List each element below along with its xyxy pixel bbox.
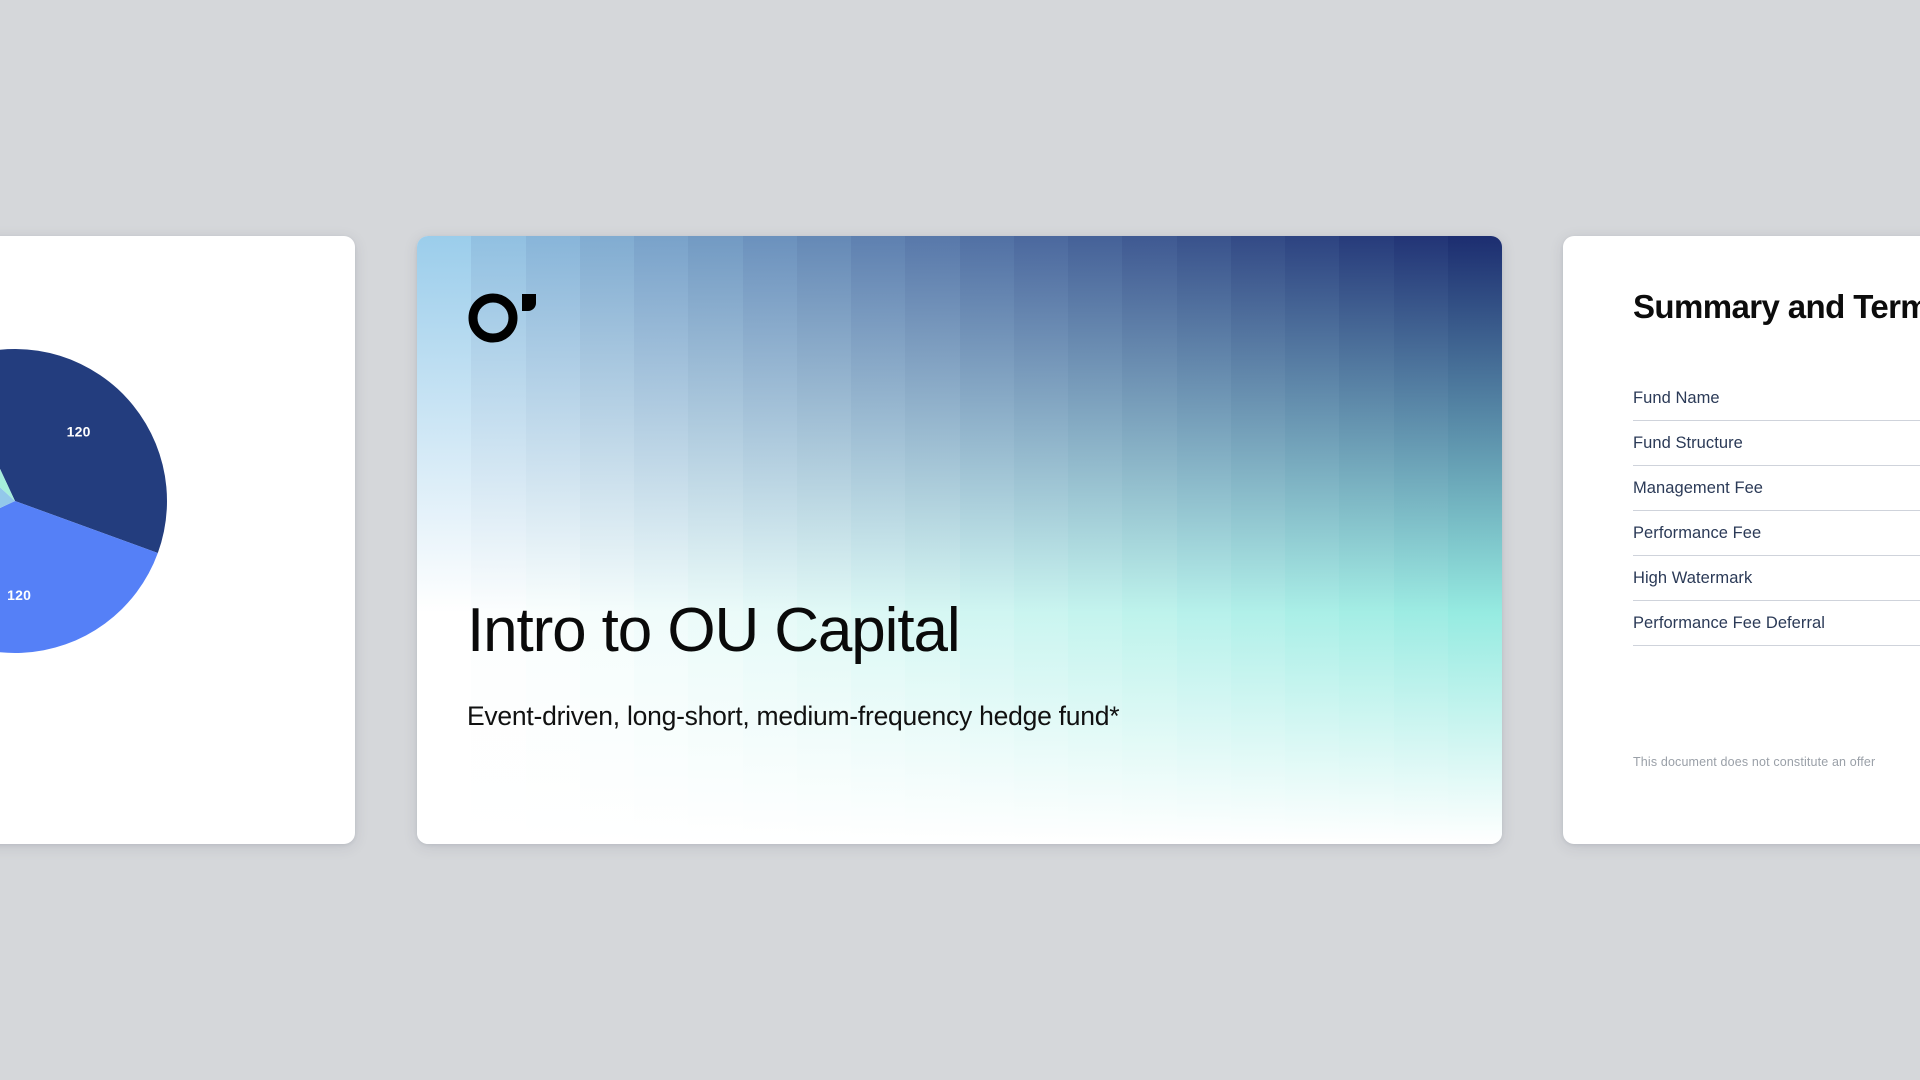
page-subtitle: Event-driven, long-short, medium-frequen… — [467, 701, 1119, 732]
terms-row-label: Performance Fee — [1633, 524, 1761, 542]
terms-row[interactable]: High Watermark — [1633, 556, 1920, 601]
gradient-band — [1177, 236, 1231, 844]
terms-row-label: High Watermark — [1633, 569, 1752, 587]
gradient-band — [688, 236, 742, 844]
gradient-background — [417, 236, 1502, 844]
gradient-band — [1231, 236, 1285, 844]
gradient-band — [1394, 236, 1448, 844]
gradient-band — [1068, 236, 1122, 844]
terms-row-label: Fund Name — [1633, 389, 1720, 407]
gradient-band — [1285, 236, 1339, 844]
terms-row[interactable]: Fund Name — [1633, 376, 1920, 421]
gradient-band — [580, 236, 634, 844]
terms-row-label: Performance Fee Deferral — [1633, 614, 1825, 632]
ou-capital-logo-icon — [467, 288, 549, 344]
gradient-band — [960, 236, 1014, 844]
pie-chart-svg: 12012020 — [0, 346, 170, 656]
terms-row-label: Fund Structure — [1633, 434, 1743, 452]
terms-heading: Summary and Terms — [1633, 288, 1920, 326]
pie-chart[interactable]: 12012020 — [0, 346, 170, 656]
terms-row[interactable]: Management Fee — [1633, 466, 1920, 511]
page-title: Intro to OU Capital — [467, 598, 960, 663]
gradient-band — [1122, 236, 1176, 844]
terms-row[interactable]: Performance Fee — [1633, 511, 1920, 556]
gradient-band — [634, 236, 688, 844]
disclaimer-text: This document does not constitute an off… — [1633, 755, 1875, 769]
gradient-band — [1339, 236, 1393, 844]
pie-slice-label: 120 — [7, 587, 31, 603]
gradient-band — [417, 236, 471, 844]
slide-canvas: 12012020 Performance Fee Intro to OU Cap… — [0, 0, 1920, 1080]
slide-card-terms[interactable]: Summary and Terms Fund NameFund Structur… — [1563, 236, 1920, 844]
gradient-band — [797, 236, 851, 844]
gradient-band — [1014, 236, 1068, 844]
terms-row-label: Management Fee — [1633, 479, 1763, 497]
terms-table: Fund NameFund StructureManagement FeePer… — [1633, 376, 1920, 646]
slide-card-title[interactable]: Intro to OU Capital Event-driven, long-s… — [417, 236, 1502, 844]
terms-row[interactable]: Performance Fee Deferral — [1633, 601, 1920, 646]
pie-slice-label: 120 — [67, 424, 91, 440]
gradient-band — [905, 236, 959, 844]
slide-card-chart[interactable]: 12012020 Performance Fee — [0, 236, 355, 844]
gradient-band — [1448, 236, 1502, 844]
terms-row[interactable]: Fund Structure — [1633, 421, 1920, 466]
gradient-band — [851, 236, 905, 844]
gradient-band — [743, 236, 797, 844]
